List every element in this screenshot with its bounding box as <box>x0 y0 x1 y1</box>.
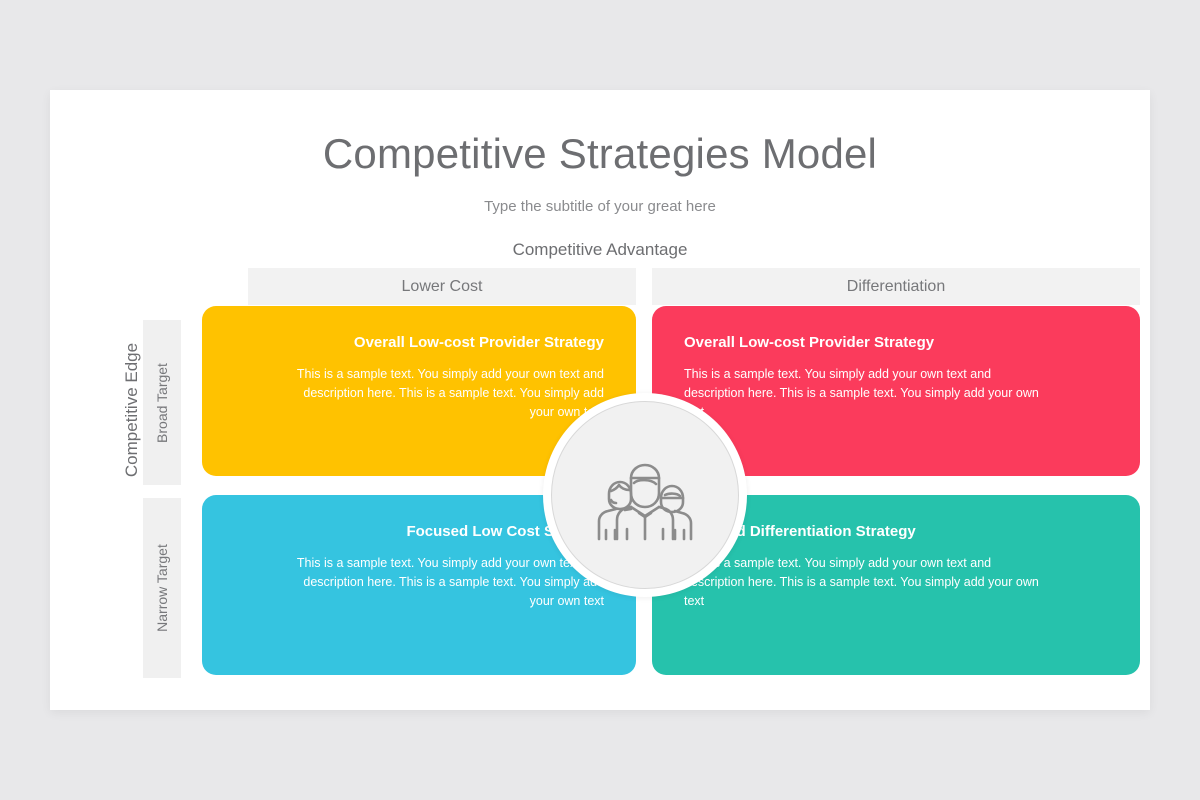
row-header-label: Narrow Target <box>154 544 170 632</box>
quadrant-title: Overall Low-cost Provider Strategy <box>234 334 604 352</box>
center-badge[interactable] <box>543 393 747 597</box>
column-header-differentiation[interactable]: Differentiation <box>652 268 1140 305</box>
column-header-label: Lower Cost <box>402 278 483 296</box>
page-subtitle: Type the subtitle of your great here <box>50 198 1150 215</box>
quadrant-body: This is a sample text. You simply add yo… <box>234 365 604 422</box>
axis-left-label: Competitive Edge <box>122 310 142 510</box>
team-group-icon <box>587 447 703 543</box>
center-badge-inner <box>551 401 739 589</box>
quadrant-title: Focused Differentiation Strategy <box>684 523 1108 541</box>
row-header-narrow-target[interactable]: Narrow Target <box>143 498 181 678</box>
page-title: Competitive Strategies Model <box>50 130 1150 178</box>
axis-top-label: Competitive Advantage <box>50 240 1150 260</box>
quadrant-body: This is a sample text. You simply add yo… <box>684 554 1108 611</box>
slide-canvas: Competitive Strategies Model Type the su… <box>50 90 1150 710</box>
quadrant-body: This is a sample text. You simply add yo… <box>684 365 1108 422</box>
row-header-broad-target[interactable]: Broad Target <box>143 320 181 485</box>
column-header-lower-cost[interactable]: Lower Cost <box>248 268 636 305</box>
row-header-label: Broad Target <box>154 363 170 443</box>
quadrant-body: This is a sample text. You simply add yo… <box>234 554 604 611</box>
quadrant-title: Overall Low-cost Provider Strategy <box>684 334 1108 352</box>
column-header-label: Differentiation <box>847 278 945 296</box>
